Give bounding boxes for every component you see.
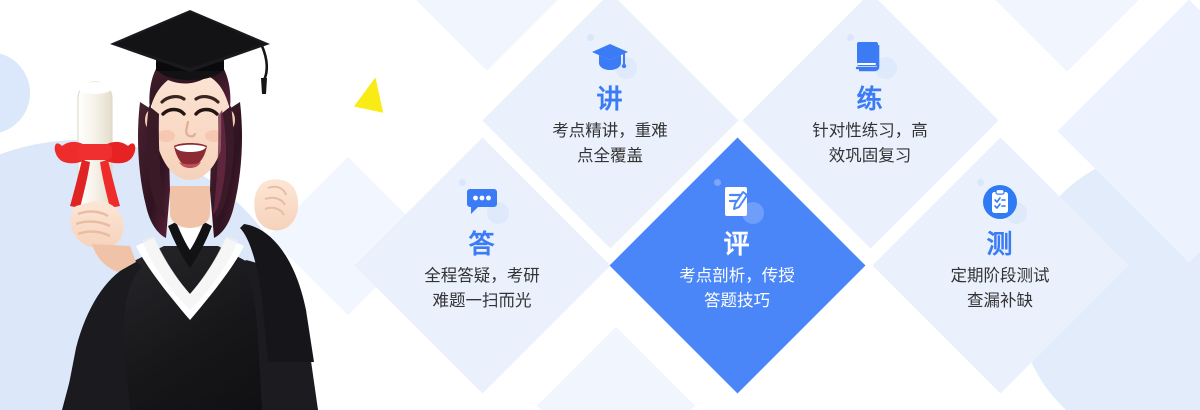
card-title: 练: [856, 84, 883, 114]
decor-dot-small: [847, 34, 854, 41]
edit-document-icon: [715, 181, 759, 223]
background-diamond: [986, 0, 1147, 72]
card-description-line: 答题技巧: [659, 289, 815, 314]
chat-bubble-icon: [460, 181, 504, 223]
book-icon: [848, 36, 892, 78]
graduate-photo: [18, 10, 358, 410]
yellow-triangle-icon: [354, 74, 390, 113]
promo-banner: 讲 考点精讲，重难 点全覆盖 练 针对性练习，高: [0, 0, 1200, 410]
graduation-cap-icon: [588, 36, 632, 78]
feature-card-da[interactable]: 答 全程答疑，考研 难题一扫而光: [354, 137, 610, 393]
decor-dot-small: [587, 34, 594, 41]
card-description: 全程答疑，考研 难题一扫而光: [404, 264, 560, 314]
feature-card-ping[interactable]: 评 考点剖析，传授 答题技巧: [609, 137, 865, 393]
card-title: 答: [468, 229, 495, 259]
decor-dot-small: [714, 179, 721, 186]
card-description-line: 考点剖析，传授: [659, 264, 815, 289]
card-description: 定期阶段测试 查漏补缺: [922, 264, 1078, 314]
card-title: 测: [986, 229, 1013, 259]
card-description: 考点剖析，传授 答题技巧: [659, 264, 815, 314]
decor-dot-small: [459, 179, 466, 186]
card-description-line: 定期阶段测试: [922, 264, 1078, 289]
clipboard-check-icon: [978, 181, 1022, 223]
card-title: 评: [723, 229, 750, 259]
card-description-line: 查漏补缺: [922, 289, 1078, 314]
card-description-line: 全程答疑，考研: [404, 264, 560, 289]
card-title: 讲: [596, 84, 623, 114]
card-description-line: 难题一扫而光: [404, 289, 560, 314]
feature-card-ce[interactable]: 测 定期阶段测试 查漏补缺: [872, 137, 1128, 393]
